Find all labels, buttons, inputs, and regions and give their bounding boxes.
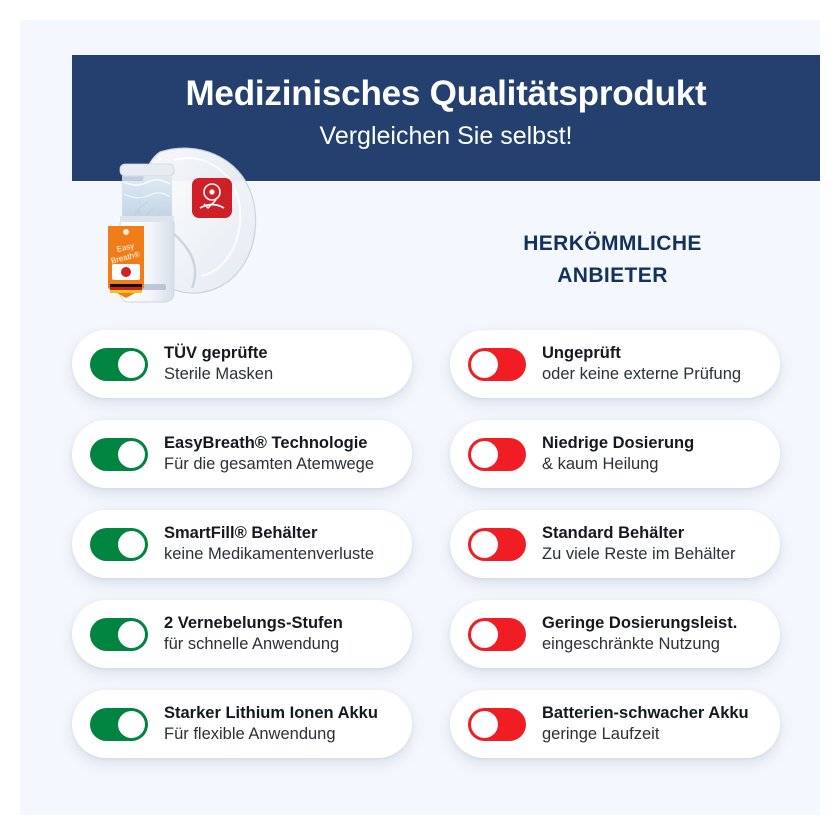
toggle-switch-on[interactable] [90, 708, 148, 741]
toggle-switch-off[interactable] [468, 438, 526, 471]
toggle-knob [118, 441, 145, 468]
feature-title: SmartFill® Behälter [164, 523, 374, 544]
product-hang-tag: Easy Breath® [108, 226, 144, 298]
feature-card[interactable]: SmartFill® Behälter keine Medikamentenve… [72, 510, 412, 578]
toggle-switch-off[interactable] [468, 348, 526, 381]
drawback-card[interactable]: Geringe Dosierungsleist. eingeschränkte … [450, 600, 780, 668]
drawback-subtitle: & kaum Heilung [542, 454, 694, 475]
feature-subtitle: keine Medikamentenverluste [164, 544, 374, 565]
competitor-feature-column: Ungeprüft oder keine externe Prüfung Nie… [450, 330, 780, 780]
toggle-switch-on[interactable] [90, 528, 148, 561]
feature-labels: TÜV geprüfte Sterile Masken [164, 343, 273, 385]
drawback-title: Ungeprüft [542, 343, 741, 364]
toggle-switch-off[interactable] [468, 708, 526, 741]
feature-labels: 2 Vernebelungs-Stufen für schnelle Anwen… [164, 613, 343, 655]
drawback-labels: Geringe Dosierungsleist. eingeschränkte … [542, 613, 737, 655]
feature-title: 2 Vernebelungs-Stufen [164, 613, 343, 634]
toggle-knob [118, 531, 145, 558]
banner-title: Medizinisches Qualitätsprodukt [72, 74, 820, 114]
feature-labels: SmartFill® Behälter keine Medikamentenve… [164, 523, 374, 565]
feature-card[interactable]: 2 Vernebelungs-Stufen für schnelle Anwen… [72, 600, 412, 668]
feature-labels: Starker Lithium Ionen Akku Für flexible … [164, 703, 378, 745]
competitor-column-heading: HERKÖMMLICHE ANBIETER [440, 228, 785, 292]
drawback-subtitle: Zu viele Reste im Behälter [542, 544, 736, 565]
drawback-labels: Niedrige Dosierung & kaum Heilung [542, 433, 694, 475]
feature-labels: EasyBreath® Technologie Für die gesamten… [164, 433, 374, 475]
infographic-page: Medizinisches Qualitätsprodukt Vergleich… [0, 0, 840, 840]
drawback-subtitle: geringe Laufzeit [542, 724, 749, 745]
drawback-title: Niedrige Dosierung [542, 433, 694, 454]
drawback-card[interactable]: Batterien-schwacher Akku geringe Laufzei… [450, 690, 780, 758]
product-feature-column: TÜV geprüfte Sterile Masken EasyBreath® … [72, 330, 412, 780]
drawback-subtitle: eingeschränkte Nutzung [542, 634, 737, 655]
product-image: Easy Breath® [88, 138, 288, 328]
toggle-switch-off[interactable] [468, 618, 526, 651]
feature-subtitle: Für flexible Anwendung [164, 724, 378, 745]
feature-subtitle: Für die gesamten Atemwege [164, 454, 374, 475]
toggle-knob [471, 531, 498, 558]
toggle-knob [471, 351, 498, 378]
feature-title: TÜV geprüfte [164, 343, 273, 364]
toggle-knob [118, 711, 145, 738]
feature-title: Starker Lithium Ionen Akku [164, 703, 378, 724]
toggle-switch-on[interactable] [90, 618, 148, 651]
drawback-card[interactable]: Niedrige Dosierung & kaum Heilung [450, 420, 780, 488]
toggle-knob [471, 621, 498, 648]
toggle-knob [471, 441, 498, 468]
drawback-labels: Ungeprüft oder keine externe Prüfung [542, 343, 741, 385]
drawback-card[interactable]: Standard Behälter Zu viele Reste im Behä… [450, 510, 780, 578]
toggle-switch-on[interactable] [90, 438, 148, 471]
feature-card[interactable]: EasyBreath® Technologie Für die gesamten… [72, 420, 412, 488]
toggle-switch-on[interactable] [90, 348, 148, 381]
competitor-heading-line1: HERKÖMMLICHE [440, 228, 785, 260]
feature-title: EasyBreath® Technologie [164, 433, 374, 454]
feature-card[interactable]: Starker Lithium Ionen Akku Für flexible … [72, 690, 412, 758]
toggle-knob [471, 711, 498, 738]
feature-subtitle: Sterile Masken [164, 364, 273, 385]
drawback-card[interactable]: Ungeprüft oder keine externe Prüfung [450, 330, 780, 398]
drawback-title: Batterien-schwacher Akku [542, 703, 749, 724]
tuv-seal-badge [192, 178, 232, 218]
toggle-switch-off[interactable] [468, 528, 526, 561]
toggle-knob [118, 351, 145, 378]
feature-card[interactable]: TÜV geprüfte Sterile Masken [72, 330, 412, 398]
drawback-labels: Batterien-schwacher Akku geringe Laufzei… [542, 703, 749, 745]
drawback-subtitle: oder keine externe Prüfung [542, 364, 741, 385]
drawback-title: Standard Behälter [542, 523, 736, 544]
competitor-heading-line2: ANBIETER [440, 260, 785, 292]
toggle-knob [118, 621, 145, 648]
drawback-title: Geringe Dosierungsleist. [542, 613, 737, 634]
drawback-labels: Standard Behälter Zu viele Reste im Behä… [542, 523, 736, 565]
feature-subtitle: für schnelle Anwendung [164, 634, 343, 655]
